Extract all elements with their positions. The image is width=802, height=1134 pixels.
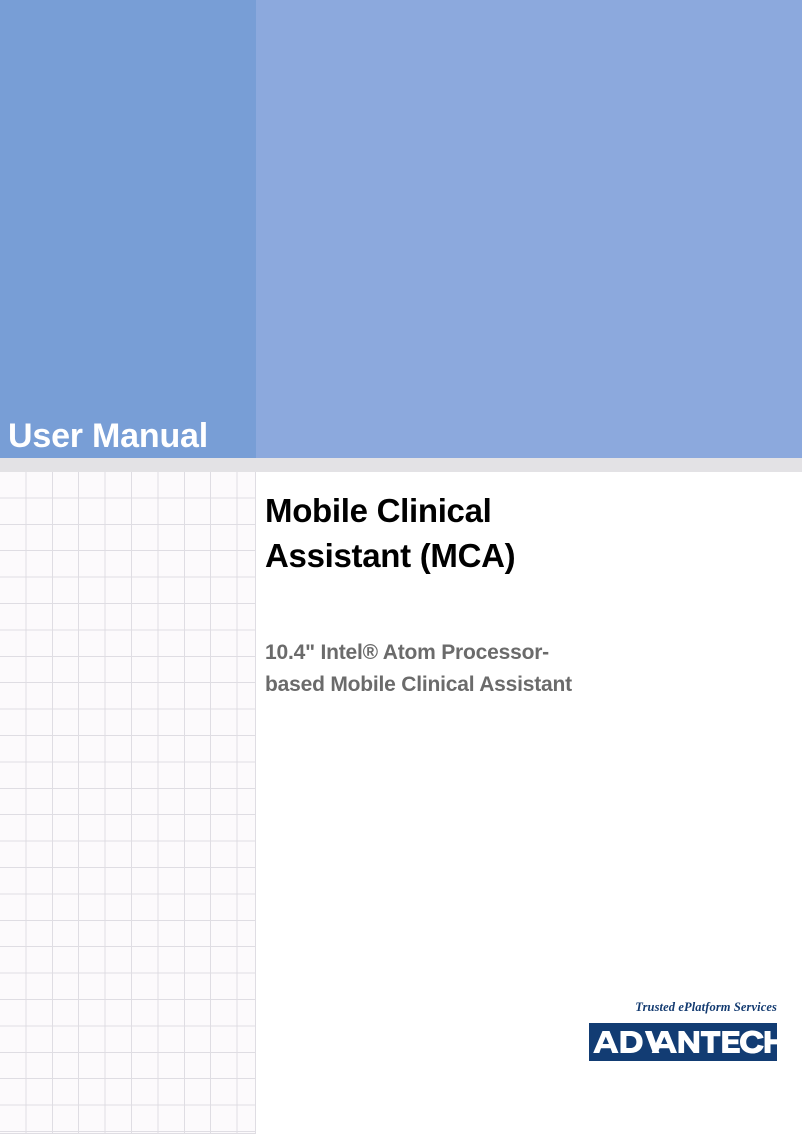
page-subtitle-line-1: 10.4" Intel® Atom Processor- <box>265 641 549 664</box>
advantech-logo-box <box>589 1023 777 1061</box>
advantech-tagline: Trusted ePlatform Services <box>589 1000 777 1014</box>
banner-separator-band <box>0 458 802 472</box>
page-subtitle: 10.4" Intel® Atom Processor- based Mobil… <box>265 578 785 701</box>
page-title-line-1: Mobile Clinical <box>265 492 492 529</box>
page-subtitle-line-2: based Mobile Clinical Assistant <box>265 673 572 696</box>
advantech-wordmark-icon <box>589 1023 777 1061</box>
cover-banner: User Manual <box>0 0 802 458</box>
graph-paper-grid-panel <box>0 472 256 1134</box>
banner-right-panel <box>256 0 802 458</box>
user-manual-label: User Manual <box>8 416 256 456</box>
document-cover-page: User Manual Mobile Clinical Assistant (M… <box>0 0 802 1134</box>
cover-content: Mobile Clinical Assistant (MCA) 10.4" In… <box>265 488 785 701</box>
page-title: Mobile Clinical Assistant (MCA) <box>265 488 785 578</box>
banner-left-panel <box>0 0 256 458</box>
advantech-branding: Trusted ePlatform Services <box>589 1000 777 1061</box>
page-title-line-2: Assistant (MCA) <box>265 537 515 574</box>
